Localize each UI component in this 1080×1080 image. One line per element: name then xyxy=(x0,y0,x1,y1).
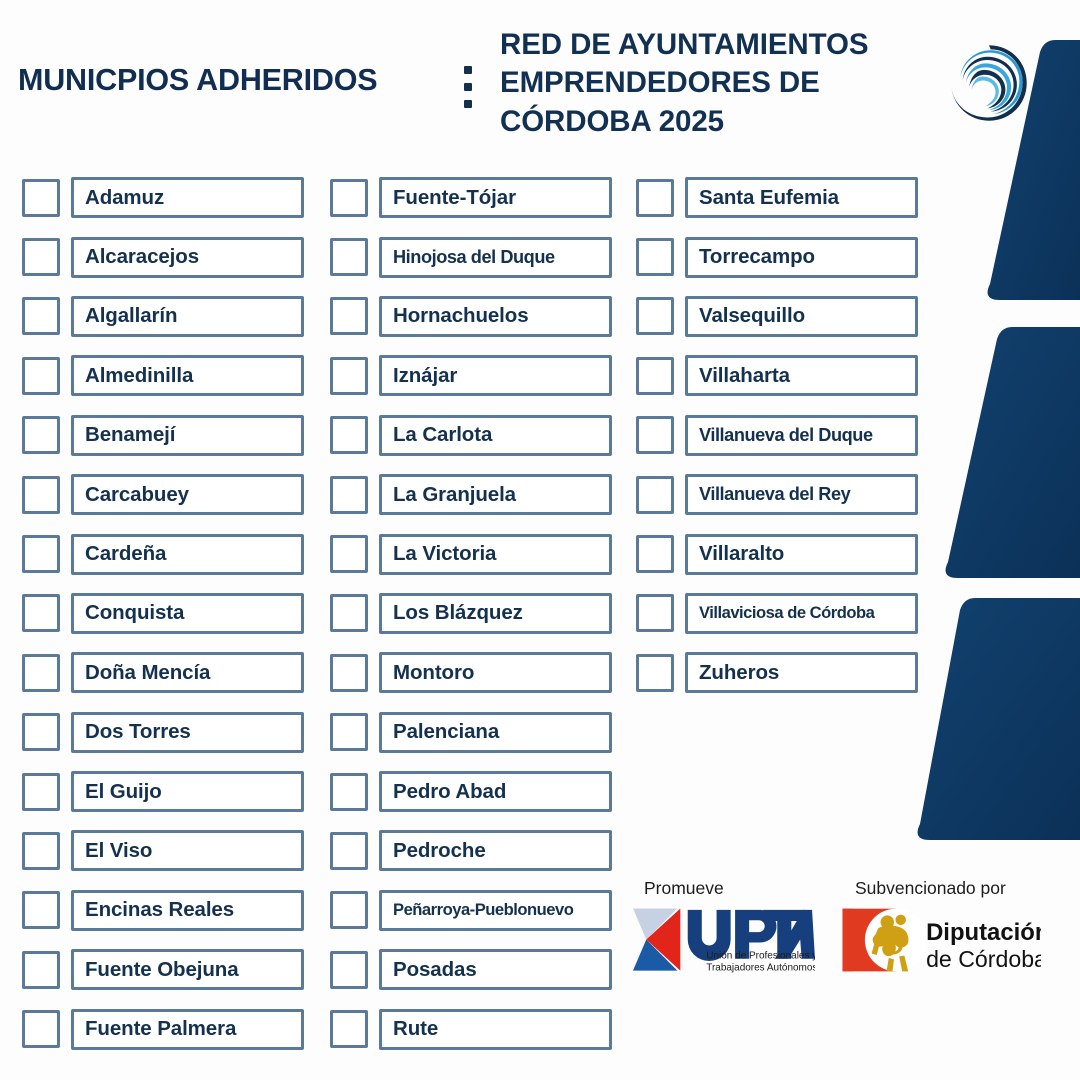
municipality-label: Villanueva del Duque xyxy=(688,425,877,446)
checklist-row[interactable]: Encinas Reales xyxy=(22,881,304,940)
checklist-row[interactable]: Iznájar xyxy=(330,346,612,405)
checklist-row[interactable]: Palenciana xyxy=(330,703,612,762)
municipality-name-box[interactable]: Algallarín xyxy=(71,296,304,337)
checklist-row[interactable]: Alcaracejos xyxy=(22,227,304,286)
sponsors-area: Promueve Unión de Profesionales y Trabaj… xyxy=(630,878,1070,998)
municipality-name-box[interactable]: Iznájar xyxy=(379,355,612,396)
checklist-row[interactable]: Benamejí xyxy=(22,406,304,465)
checkbox[interactable] xyxy=(330,357,368,395)
municipality-name-box[interactable]: La Granjuela xyxy=(379,474,612,515)
checkbox[interactable] xyxy=(22,832,60,870)
municipality-name-box[interactable]: Adamuz xyxy=(71,177,304,218)
checklist-row[interactable]: Fuente Palmera xyxy=(22,999,304,1058)
checklist-row[interactable]: El Viso xyxy=(22,821,304,880)
checkbox[interactable] xyxy=(22,416,60,454)
upta-tagline-line2: Trabajadores Autónomos xyxy=(706,963,815,974)
checklist-row[interactable]: La Carlota xyxy=(330,406,612,465)
municipality-label: El Guijo xyxy=(74,780,166,804)
poster-header: MUNICPIOS ADHERIDOS RED DE AYUNTAMIENTOS… xyxy=(0,0,1080,160)
checkbox[interactable] xyxy=(22,238,60,276)
municipality-name-box[interactable]: Valsequillo xyxy=(685,296,918,337)
dot-1 xyxy=(464,66,472,74)
checklist-row[interactable]: Montoro xyxy=(330,643,612,702)
municipality-name-box[interactable]: Pedroche xyxy=(379,830,612,871)
page-title-line-1: RED DE AYUNTAMIENTOS xyxy=(500,26,930,64)
municipality-label: La Carlota xyxy=(382,423,496,447)
poster-canvas: MUNICPIOS ADHERIDOS RED DE AYUNTAMIENTOS… xyxy=(0,0,1080,1080)
checklist-row[interactable]: Carcabuey xyxy=(22,465,304,524)
checkbox[interactable] xyxy=(22,891,60,929)
deco-shape-middle xyxy=(946,327,1080,578)
municipality-label: Fuente Palmera xyxy=(74,1017,240,1041)
municipality-label: Villaviciosa de Córdoba xyxy=(688,603,878,623)
municipality-label: Dos Torres xyxy=(74,720,195,744)
municipality-label: Palenciana xyxy=(382,720,503,744)
upta-tagline-line1: Unión de Profesionales y xyxy=(706,951,815,962)
checklist-row[interactable]: Dos Torres xyxy=(22,703,304,762)
municipality-label: Zuheros xyxy=(688,661,783,685)
checkbox[interactable] xyxy=(636,179,674,217)
checklist-row[interactable]: Conquista xyxy=(22,584,304,643)
municipality-name-box[interactable]: Fuente Obejuna xyxy=(71,949,304,990)
municipality-name-box[interactable]: Los Blázquez xyxy=(379,593,612,634)
checkbox[interactable] xyxy=(22,297,60,335)
checkbox[interactable] xyxy=(22,594,60,632)
checklist-row[interactable]: Adamuz xyxy=(22,168,304,227)
checkbox[interactable] xyxy=(330,594,368,632)
municipality-name-box[interactable]: El Guijo xyxy=(71,771,304,812)
checklist-row[interactable]: Torrecampo xyxy=(636,227,918,286)
checklist-column-2: Fuente-TójarHinojosa del DuqueHornachuel… xyxy=(330,168,612,1059)
municipality-name-box[interactable]: Montoro xyxy=(379,652,612,693)
checkbox[interactable] xyxy=(22,773,60,811)
page-title-line-2: EMPRENDEDORES DE xyxy=(500,64,930,102)
municipality-label: Santa Eufemia xyxy=(688,186,843,210)
checklist-row[interactable]: Almedinilla xyxy=(22,346,304,405)
municipality-name-box[interactable]: Alcaracejos xyxy=(71,237,304,278)
checklist-row[interactable]: Hinojosa del Duque xyxy=(330,227,612,286)
municipality-name-box[interactable]: Conquista xyxy=(71,593,304,634)
municipality-name-box[interactable]: Posadas xyxy=(379,949,612,990)
municipality-name-box[interactable]: Doña Mencía xyxy=(71,652,304,693)
page-title: RED DE AYUNTAMIENTOS EMPRENDEDORES DE CÓ… xyxy=(500,26,930,141)
municipality-name-box[interactable]: Santa Eufemia xyxy=(685,177,918,218)
checkbox[interactable] xyxy=(330,832,368,870)
municipality-name-box[interactable]: El Viso xyxy=(71,830,304,871)
sponsor-promueve: Promueve Unión de Profesionales y Trabaj… xyxy=(630,878,815,998)
municipality-name-box[interactable]: Villaralto xyxy=(685,534,918,575)
municipality-label: Villaharta xyxy=(688,364,794,388)
checkbox[interactable] xyxy=(330,416,368,454)
municipality-name-box[interactable]: La Victoria xyxy=(379,534,612,575)
checklist-row[interactable]: Cardeña xyxy=(22,524,304,583)
checkbox[interactable] xyxy=(330,951,368,989)
diputacion-line2: de Córdoba xyxy=(926,946,1041,972)
checkbox[interactable] xyxy=(330,179,368,217)
diputacion-de-cordoba-logo: Diputación de Córdoba xyxy=(841,905,1041,981)
checklist-row[interactable]: Villaralto xyxy=(636,524,918,583)
checklist-column-3: Santa EufemiaTorrecampoValsequilloVillah… xyxy=(636,168,918,703)
checkbox[interactable] xyxy=(22,476,60,514)
checklist-row[interactable]: La Victoria xyxy=(330,524,612,583)
checklist-row[interactable]: La Granjuela xyxy=(330,465,612,524)
deco-shape-bottom xyxy=(918,598,1080,840)
municipality-label: Encinas Reales xyxy=(74,898,238,922)
municipality-label: Peñarroya-Pueblonuevo xyxy=(382,900,577,920)
checkbox[interactable] xyxy=(330,654,368,692)
municipality-name-box[interactable]: Peñarroya-Pueblonuevo xyxy=(379,890,612,931)
municipality-name-box[interactable]: Almedinilla xyxy=(71,355,304,396)
municipality-label: Villanueva del Rey xyxy=(688,484,854,505)
municipality-label: Villaralto xyxy=(688,542,788,566)
municipality-label: Iznájar xyxy=(382,364,461,388)
municipality-name-box[interactable]: Carcabuey xyxy=(71,474,304,515)
municipality-label: Valsequillo xyxy=(688,304,809,328)
checkbox[interactable] xyxy=(22,179,60,217)
checklist-row[interactable]: Villaharta xyxy=(636,346,918,405)
municipality-name-box[interactable]: Fuente Palmera xyxy=(71,1009,304,1050)
checkbox[interactable] xyxy=(636,535,674,573)
checkbox[interactable] xyxy=(636,594,674,632)
checklist-row[interactable]: Zuheros xyxy=(636,643,918,702)
checklist-row[interactable]: El Guijo xyxy=(22,762,304,821)
checkbox[interactable] xyxy=(22,951,60,989)
checklist-row[interactable]: Villanueva del Rey xyxy=(636,465,918,524)
upta-logo: Unión de Profesionales y Trabajadores Au… xyxy=(630,905,815,977)
checklist-row[interactable]: Villaviciosa de Córdoba xyxy=(636,584,918,643)
municipality-label: Hornachuelos xyxy=(382,304,533,328)
checkbox[interactable] xyxy=(22,654,60,692)
municipality-name-box[interactable]: Dos Torres xyxy=(71,712,304,753)
checklist-row[interactable]: Algallarín xyxy=(22,287,304,346)
municipality-label: Hinojosa del Duque xyxy=(382,247,559,268)
municipality-name-box[interactable]: Hornachuelos xyxy=(379,296,612,337)
diputacion-line1: Diputación xyxy=(926,919,1041,946)
header-left-label: MUNICPIOS ADHERIDOS xyxy=(18,64,448,96)
municipality-label: Los Blázquez xyxy=(382,601,527,625)
sponsor-caption-subvencionado: Subvencionado por xyxy=(841,878,1006,899)
checklist-column-1: AdamuzAlcaracejosAlgallarínAlmedinillaBe… xyxy=(22,168,304,1059)
municipality-label: Montoro xyxy=(382,661,478,685)
municipality-name-box[interactable]: Cardeña xyxy=(71,534,304,575)
municipality-name-box[interactable]: Villaviciosa de Córdoba xyxy=(685,593,918,634)
municipality-name-box[interactable]: Pedro Abad xyxy=(379,771,612,812)
checkbox[interactable] xyxy=(330,713,368,751)
municipality-label: Torrecampo xyxy=(688,245,819,269)
municipality-name-box[interactable]: Zuheros xyxy=(685,652,918,693)
municipality-label: Fuente-Tójar xyxy=(382,186,520,210)
checkbox[interactable] xyxy=(330,773,368,811)
municipality-label: Almedinilla xyxy=(74,364,197,388)
checkbox[interactable] xyxy=(22,713,60,751)
checkbox[interactable] xyxy=(330,297,368,335)
checklist-row[interactable]: Valsequillo xyxy=(636,287,918,346)
vertical-three-dots-icon xyxy=(459,58,477,116)
checklist-row[interactable]: Pedroche xyxy=(330,821,612,880)
municipality-name-box[interactable]: La Carlota xyxy=(379,415,612,456)
checkbox[interactable] xyxy=(330,535,368,573)
checklist-row[interactable]: Posadas xyxy=(330,940,612,999)
checklist-row[interactable]: Peñarroya-Pueblonuevo xyxy=(330,881,612,940)
municipality-label: Conquista xyxy=(74,601,188,625)
checkbox[interactable] xyxy=(636,297,674,335)
checkbox[interactable] xyxy=(330,238,368,276)
page-title-line-3: CÓRDOBA 2025 xyxy=(500,103,930,141)
checkbox[interactable] xyxy=(22,535,60,573)
dot-3 xyxy=(464,100,472,108)
municipality-label: Benamejí xyxy=(74,423,179,447)
checkbox[interactable] xyxy=(22,357,60,395)
municipality-name-box[interactable]: Rute xyxy=(379,1009,612,1050)
spiral-swirl-icon xyxy=(948,42,1030,124)
municipality-label: El Viso xyxy=(74,839,156,863)
municipality-name-box[interactable]: Benamejí xyxy=(71,415,304,456)
municipality-label: La Victoria xyxy=(382,542,500,566)
municipality-name-box[interactable]: Torrecampo xyxy=(685,237,918,278)
checklist-row[interactable]: Los Blázquez xyxy=(330,584,612,643)
municipality-name-box[interactable]: Villanueva del Rey xyxy=(685,474,918,515)
municipality-name-box[interactable]: Encinas Reales xyxy=(71,890,304,931)
municipality-label: La Granjuela xyxy=(382,483,520,507)
municipality-label: Carcabuey xyxy=(74,483,193,507)
checkbox[interactable] xyxy=(22,1010,60,1048)
checkbox[interactable] xyxy=(636,238,674,276)
checklist-row[interactable]: Villanueva del Duque xyxy=(636,406,918,465)
municipality-label: Adamuz xyxy=(74,186,168,210)
municipality-label: Pedro Abad xyxy=(382,780,510,804)
municipality-name-box[interactable]: Villaharta xyxy=(685,355,918,396)
checklist-row[interactable]: Rute xyxy=(330,999,612,1058)
municipality-label: Cardeña xyxy=(74,542,170,566)
checkbox[interactable] xyxy=(636,357,674,395)
checklist-row[interactable]: Doña Mencía xyxy=(22,643,304,702)
municipality-label: Doña Mencía xyxy=(74,661,214,685)
checkbox[interactable] xyxy=(330,891,368,929)
checklist-row[interactable]: Fuente Obejuna xyxy=(22,940,304,999)
municipality-label: Fuente Obejuna xyxy=(74,958,243,982)
sponsor-subvencionado: Subvencionado por xyxy=(841,878,1041,998)
checklist-row[interactable]: Fuente-Tójar xyxy=(330,168,612,227)
checkbox[interactable] xyxy=(636,476,674,514)
municipality-label: Rute xyxy=(382,1017,442,1041)
checkbox[interactable] xyxy=(330,1010,368,1048)
checklist-row[interactable]: Hornachuelos xyxy=(330,287,612,346)
municipality-name-box[interactable]: Villanueva del Duque xyxy=(685,415,918,456)
municipality-name-box[interactable]: Hinojosa del Duque xyxy=(379,237,612,278)
checklist-row[interactable]: Santa Eufemia xyxy=(636,168,918,227)
municipality-label: Pedroche xyxy=(382,839,490,863)
municipality-label: Posadas xyxy=(382,958,481,982)
sponsor-caption-promueve: Promueve xyxy=(630,878,724,899)
checkbox[interactable] xyxy=(636,654,674,692)
municipality-label: Alcaracejos xyxy=(74,245,203,269)
dot-2 xyxy=(464,83,472,91)
checkbox[interactable] xyxy=(330,476,368,514)
checkbox[interactable] xyxy=(636,416,674,454)
municipality-name-box[interactable]: Fuente-Tójar xyxy=(379,177,612,218)
municipality-name-box[interactable]: Palenciana xyxy=(379,712,612,753)
municipality-label: Algallarín xyxy=(74,304,181,328)
checklist-row[interactable]: Pedro Abad xyxy=(330,762,612,821)
